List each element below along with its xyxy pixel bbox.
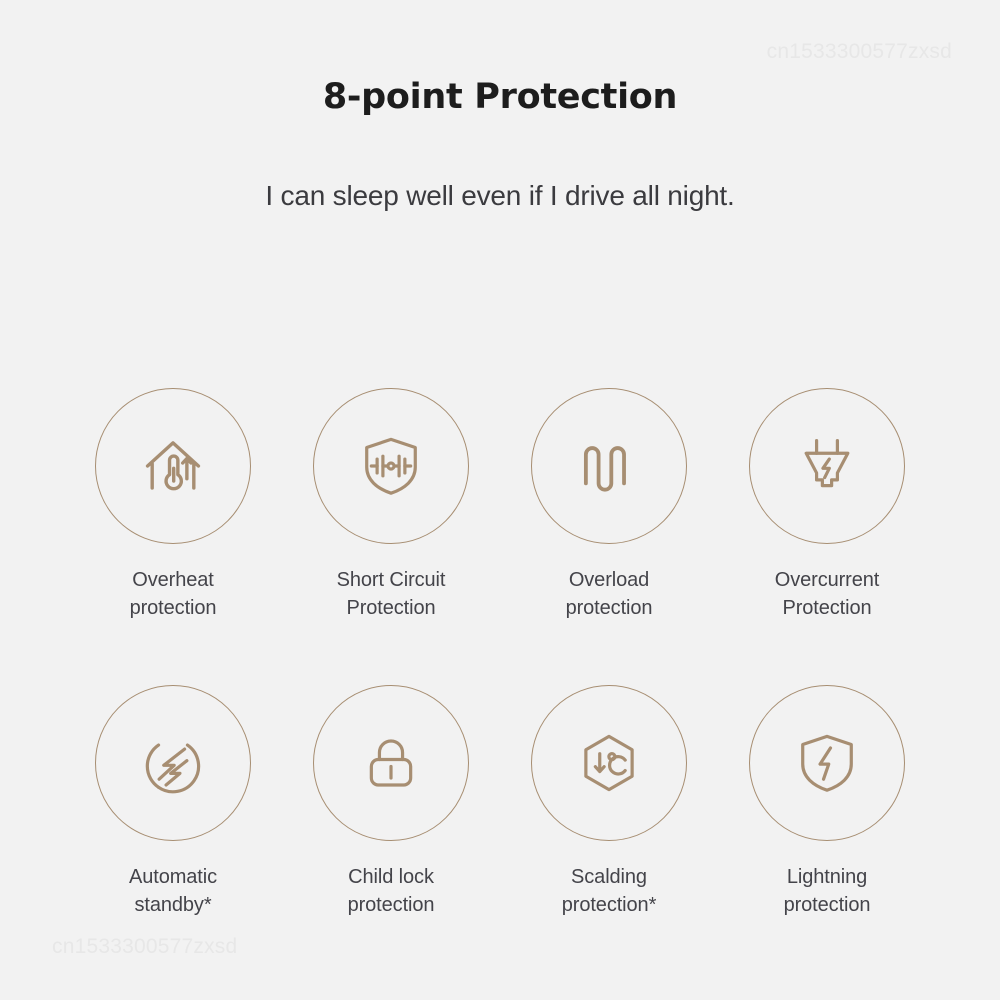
feature-overheat: Overheat protection — [66, 388, 280, 623]
page-subtitle: I can sleep well even if I drive all nig… — [0, 117, 1000, 213]
caption-line-2: protection — [348, 891, 435, 919]
features-row-top: Overheat protection — [66, 388, 934, 623]
caption-line-2: Protection — [337, 594, 446, 622]
padlock-icon — [354, 726, 428, 800]
feature-badge — [95, 388, 251, 544]
caption-line-1: Scalding — [562, 863, 657, 891]
feature-caption: Overcurrent Protection — [775, 566, 880, 623]
caption-line-1: Overcurrent — [775, 566, 880, 594]
caption-line-2: protection — [784, 891, 871, 919]
watermark-top-right: cn1533300577zxsd — [767, 40, 952, 64]
caption-line-2: protection — [566, 594, 653, 622]
feature-caption: Automatic standby* — [129, 863, 217, 920]
feature-caption: Scalding protection* — [562, 863, 657, 920]
feature-badge — [531, 685, 687, 841]
features-grid: Overheat protection — [66, 388, 934, 920]
feature-automatic-standby: Automatic standby* — [66, 685, 280, 920]
feature-caption: Child lock protection — [348, 863, 435, 920]
feature-lightning: Lightning protection — [720, 685, 934, 920]
caption-line-1: Overload — [566, 566, 653, 594]
hexagon-temperature-down-icon — [572, 726, 646, 800]
feature-badge — [313, 388, 469, 544]
feature-child-lock: Child lock protection — [284, 685, 498, 920]
caption-line-1: Child lock — [348, 863, 435, 891]
caption-line-2: Protection — [775, 594, 880, 622]
feature-overload: Overload protection — [502, 388, 716, 623]
feature-caption: Short Circuit Protection — [337, 566, 446, 623]
feature-caption: Overheat protection — [130, 566, 217, 623]
shield-circuit-icon — [354, 429, 428, 503]
power-plug-bolt-icon — [790, 429, 864, 503]
feature-badge — [95, 685, 251, 841]
square-wave-overload-icon — [572, 429, 646, 503]
protection-infographic: cn1533300577zxsd 8-point Protection I ca… — [0, 0, 1000, 1000]
feature-badge — [749, 388, 905, 544]
caption-line-1: Lightning — [784, 863, 871, 891]
feature-caption: Overload protection — [566, 566, 653, 623]
house-thermometer-up-icon — [136, 429, 210, 503]
feature-scalding: Scalding protection* — [502, 685, 716, 920]
caption-line-2: protection* — [562, 891, 657, 919]
features-row-bottom: Automatic standby* Child lock — [66, 685, 934, 920]
bolt-in-circle-standby-icon — [136, 726, 210, 800]
watermark-bottom-left: cn1533300577zxsd — [52, 935, 237, 959]
page-title: 8-point Protection — [0, 78, 1000, 117]
caption-line-1: Short Circuit — [337, 566, 446, 594]
feature-badge — [313, 685, 469, 841]
feature-overcurrent: Overcurrent Protection — [720, 388, 934, 623]
caption-line-1: Overheat — [130, 566, 217, 594]
caption-line-2: standby* — [129, 891, 217, 919]
feature-badge — [531, 388, 687, 544]
feature-short-circuit: Short Circuit Protection — [284, 388, 498, 623]
shield-bolt-icon — [790, 726, 864, 800]
feature-caption: Lightning protection — [784, 863, 871, 920]
feature-badge — [749, 685, 905, 841]
caption-line-2: protection — [130, 594, 217, 622]
header: 8-point Protection I can sleep well even… — [0, 78, 1000, 212]
caption-line-1: Automatic — [129, 863, 217, 891]
